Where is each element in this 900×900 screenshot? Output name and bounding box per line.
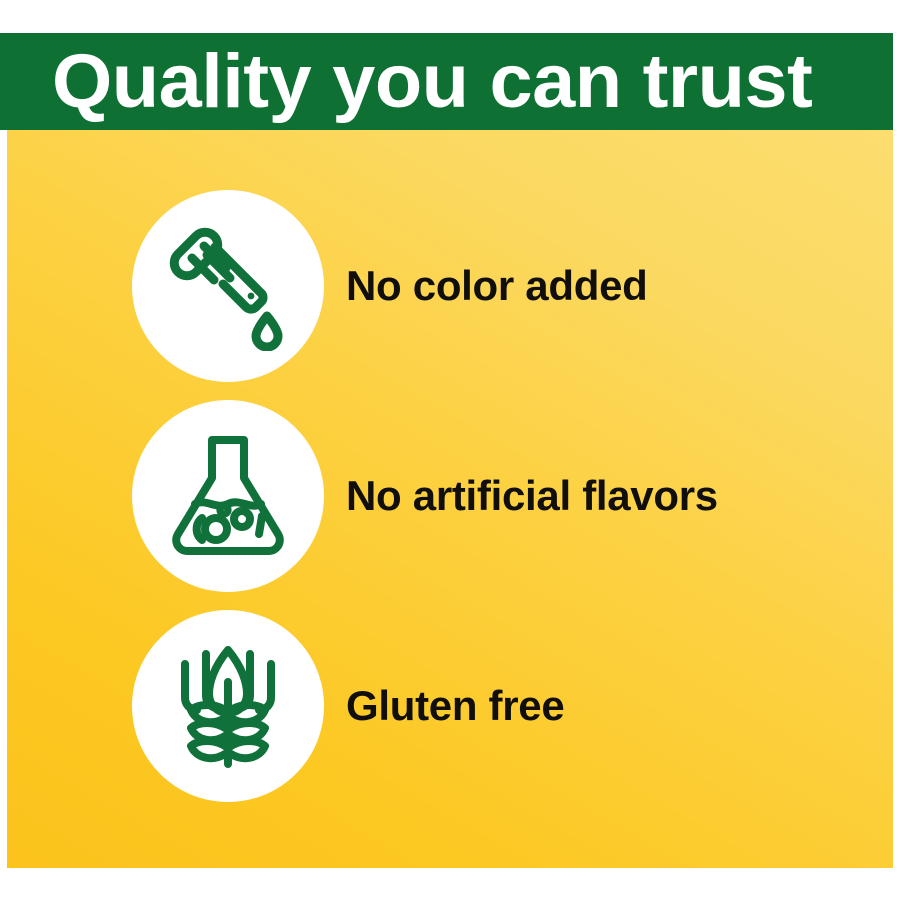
feature-list: No color added <box>7 130 893 868</box>
list-item: No color added <box>132 190 648 382</box>
feature-label: No color added <box>346 265 648 307</box>
quality-claims-poster: Quality you can trust <box>0 0 900 900</box>
dropper-icon <box>163 221 293 351</box>
icon-badge <box>132 400 324 592</box>
icon-badge <box>132 190 324 382</box>
feature-label: No artificial flavors <box>346 475 718 517</box>
icon-badge <box>132 610 324 802</box>
feature-label: Gluten free <box>346 685 564 727</box>
wheat-icon <box>165 638 291 774</box>
list-item: Gluten free <box>132 610 564 802</box>
page-title: Quality you can trust <box>52 44 812 120</box>
list-item: No artificial flavors <box>132 400 718 592</box>
header-banner: Quality you can trust <box>0 33 893 130</box>
content-panel: No color added <box>7 130 893 868</box>
flask-icon <box>162 430 294 562</box>
